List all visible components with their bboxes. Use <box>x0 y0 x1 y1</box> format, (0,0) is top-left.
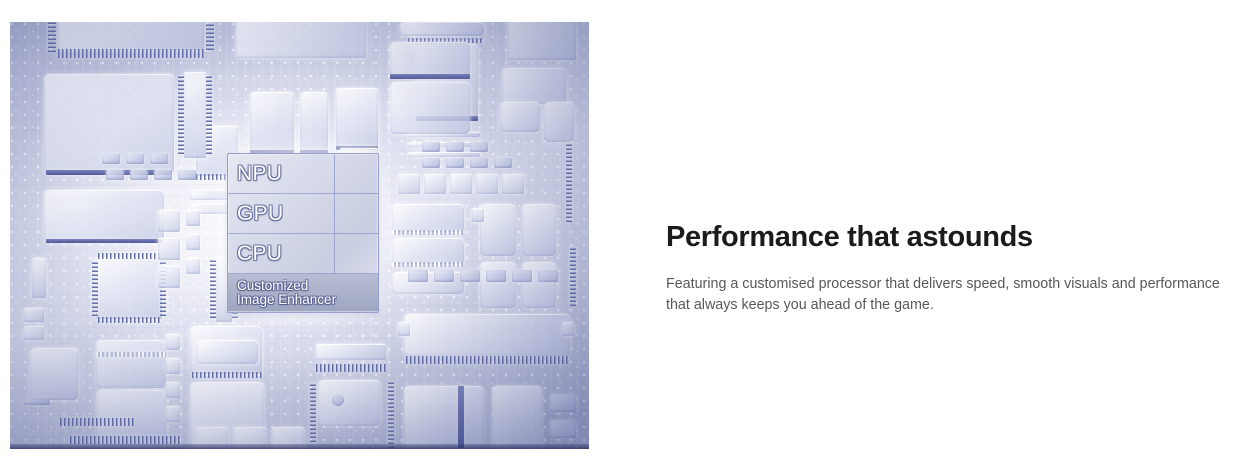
hero-section: NPU GPU CPU CustomizedImage Enhancer Per… <box>0 0 1259 472</box>
chip-solder-bar <box>46 239 162 243</box>
chip-component <box>550 420 576 438</box>
chip-pins <box>206 76 212 154</box>
chip-label-panel: NPU GPU CPU CustomizedImage Enhancer <box>227 153 379 313</box>
chip-component <box>106 170 124 180</box>
chip-row-cpu: CPU <box>228 234 378 274</box>
chip-component <box>166 358 180 374</box>
chip-component <box>126 154 144 164</box>
chip-row-image-enhancer: CustomizedImage Enhancer <box>228 274 378 312</box>
chip-component <box>186 234 200 250</box>
chip-component <box>446 158 464 168</box>
chip-component <box>158 266 180 288</box>
chip-component <box>58 22 204 50</box>
chip-component <box>186 210 200 226</box>
chip-component <box>562 322 574 336</box>
chip-component <box>398 174 420 194</box>
hero-description: Featuring a customised processor that de… <box>666 255 1244 316</box>
chip-pins <box>58 49 204 58</box>
chip-pins <box>570 246 576 306</box>
chip-component <box>336 88 378 150</box>
chip-component <box>400 22 484 36</box>
chip-component <box>550 394 576 412</box>
page-title: Performance that astounds <box>666 219 1246 255</box>
chip-component <box>538 270 558 282</box>
chip-component <box>480 204 516 256</box>
chip-component <box>196 340 258 364</box>
chip-label-image-enhancer-line2: Image Enhancer <box>237 293 336 308</box>
chip-component <box>102 154 120 164</box>
chip-component <box>150 154 168 164</box>
chip-component <box>404 386 484 448</box>
chip-component <box>500 102 540 132</box>
chip-component <box>544 102 574 142</box>
chip-component <box>508 22 576 60</box>
chip-pins <box>60 418 134 426</box>
chip-component <box>332 394 344 406</box>
chip-component <box>390 42 470 76</box>
chip-component <box>480 262 516 308</box>
chip-component <box>30 348 78 400</box>
chip-component <box>502 68 566 104</box>
chip-pins <box>210 260 216 318</box>
chip-pins <box>92 260 98 316</box>
chip-pins <box>392 262 464 267</box>
chip-component <box>158 238 180 260</box>
chip-component <box>392 204 464 232</box>
chip-component <box>522 262 556 308</box>
chip-pins <box>406 356 568 364</box>
chip-pins <box>178 76 184 154</box>
chip-component <box>446 142 464 152</box>
chip-component <box>404 314 570 356</box>
chip-component <box>166 406 180 422</box>
chip-component <box>24 308 44 322</box>
chip-pins <box>388 382 394 448</box>
chip-component <box>316 344 386 360</box>
chip-component <box>184 72 206 158</box>
chip-pins <box>566 142 572 222</box>
chip-panel-rows: NPU GPU CPU CustomizedImage Enhancer <box>228 154 378 312</box>
chip-component <box>300 92 328 154</box>
chip-component <box>486 270 506 282</box>
chip-pins <box>316 364 386 372</box>
chip-component <box>96 257 162 319</box>
chip-component <box>166 382 180 398</box>
chip-component <box>392 238 464 264</box>
chip-component <box>408 152 480 157</box>
chip-component <box>460 270 480 282</box>
chip-component <box>472 208 484 222</box>
chip-pins <box>48 22 56 52</box>
chip-component <box>470 158 488 168</box>
chip-pins <box>70 436 180 444</box>
chip-component <box>236 22 366 58</box>
chip-component <box>398 322 410 336</box>
chip-component <box>32 258 46 298</box>
chip-pins <box>206 22 214 50</box>
chip-component <box>390 82 470 134</box>
chip-component <box>166 334 180 350</box>
chip-component <box>130 170 148 180</box>
chip-component <box>434 270 454 282</box>
chip-component <box>44 190 164 242</box>
chip-component <box>196 427 228 449</box>
processor-image: NPU GPU CPU CustomizedImage Enhancer <box>10 22 589 449</box>
chip-component <box>476 174 498 194</box>
chip-component <box>494 158 512 168</box>
chip-label-image-enhancer-line1: Customized <box>237 278 308 293</box>
chip-row-npu: NPU <box>228 154 378 194</box>
chip-component <box>502 174 524 194</box>
chip-component <box>186 258 200 274</box>
chip-solder-bar <box>458 386 464 448</box>
chip-pins <box>98 317 160 323</box>
chip-label-npu: NPU <box>237 163 282 184</box>
chip-label-image-enhancer: CustomizedImage Enhancer <box>237 279 336 308</box>
chip-component <box>522 204 556 256</box>
chip-component <box>318 380 380 426</box>
chip-component <box>450 174 472 194</box>
chip-component <box>158 210 180 232</box>
chip-label-gpu: GPU <box>237 203 283 224</box>
chip-component <box>234 427 266 449</box>
chip-pins <box>392 230 464 235</box>
chip-component <box>422 158 440 168</box>
chip-component <box>424 174 446 194</box>
chip-component <box>250 92 294 154</box>
chip-component <box>96 340 166 388</box>
chip-component <box>24 398 50 405</box>
chip-row-gpu: GPU <box>228 194 378 234</box>
chip-pins <box>310 382 316 442</box>
chip-pins <box>192 372 262 378</box>
chip-component <box>24 326 44 340</box>
chip-component <box>512 270 532 282</box>
hero-copy-block: Performance that astounds Featuring a cu… <box>666 219 1246 316</box>
chip-component <box>422 142 440 152</box>
chip-label-cpu: CPU <box>237 243 282 264</box>
chip-solder-bar <box>390 74 470 79</box>
chip-component <box>470 142 488 152</box>
chip-pins <box>98 253 160 259</box>
chip-component <box>154 170 172 180</box>
chip-component <box>492 386 542 448</box>
chip-pins <box>96 352 166 357</box>
chip-component <box>178 170 196 180</box>
chip-component <box>272 427 304 449</box>
chip-component <box>408 270 428 282</box>
